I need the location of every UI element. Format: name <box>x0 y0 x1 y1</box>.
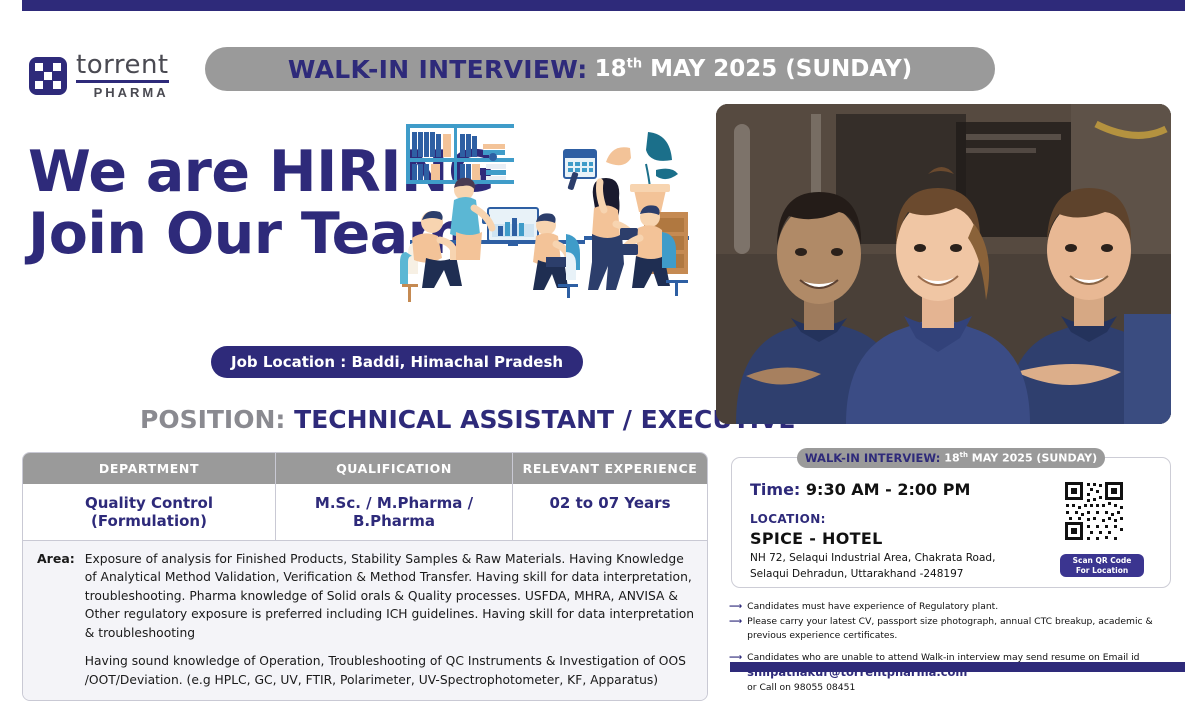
candidate-notes: ⟶ Candidates must have experience of Reg… <box>729 600 1179 696</box>
office-teamwork-illustration <box>398 112 698 307</box>
card-pill-label: WALK-IN INTERVIEW: <box>805 451 940 465</box>
note-item: ⟶ Please carry your latest CV, passport … <box>729 615 1179 642</box>
logo-subtitle: PHARMA <box>76 86 169 99</box>
area-label: Area: <box>37 550 75 689</box>
logo-rule <box>76 80 169 83</box>
area-paragraph-2: Having sound knowledge of Operation, Tro… <box>85 652 697 689</box>
note-item: ⟶ Candidates who are unable to attend Wa… <box>729 651 1179 694</box>
header-experience: RELEVANT EXPERIENCE <box>513 453 707 484</box>
logo-wordmark: torrent <box>76 52 169 78</box>
walkin-banner: WALK-IN INTERVIEW: 18th MAY 2025 (SUNDAY… <box>205 47 995 91</box>
cell-experience: 02 to 07 Years <box>513 484 707 540</box>
note-text: Candidates who are unable to attend Walk… <box>747 652 1139 663</box>
note-text: Please carry your latest CV, passport si… <box>747 615 1179 642</box>
team-photo <box>716 104 1171 424</box>
header-qualification: QUALIFICATION <box>276 453 513 484</box>
arrow-bullet-icon: ⟶ <box>729 615 742 642</box>
area-description: Area: Exposure of analysis for Finished … <box>23 540 707 700</box>
requirements-table: DEPARTMENT QUALIFICATION RELEVANT EXPERI… <box>22 452 708 701</box>
header-department: DEPARTMENT <box>23 453 276 484</box>
contact-email[interactable]: shilpathakur@torrentpharma.com <box>747 665 967 679</box>
area-paragraph-1: Exposure of analysis for Finished Produc… <box>85 550 697 642</box>
recruitment-poster: torrent PHARMA WALK-IN INTERVIEW: 18th M… <box>0 0 1200 675</box>
banner-date: 18th MAY 2025 (SUNDAY) <box>595 56 913 82</box>
card-pill-date: 18th MAY 2025 (SUNDAY) <box>944 451 1097 465</box>
card-walkin-pill: WALK-IN INTERVIEW: 18th MAY 2025 (SUNDAY… <box>797 448 1105 468</box>
qr-caption-line-2: For Location <box>1076 566 1128 576</box>
cell-department: Quality Control (Formulation) <box>23 484 276 540</box>
note-item: ⟶ Candidates must have experience of Reg… <box>729 600 1179 613</box>
note-text: Candidates must have experience of Regul… <box>747 600 998 613</box>
position-line: POSITION: TECHNICAL ASSISTANT / EXECUTIV… <box>140 405 795 434</box>
table-row: Quality Control (Formulation) M.Sc. / M.… <box>23 484 707 540</box>
banner-label: WALK-IN INTERVIEW: <box>288 55 588 84</box>
time-label: Time: <box>750 480 800 499</box>
position-label: POSITION: <box>140 405 285 434</box>
time-value: 9:30 AM - 2:00 PM <box>806 480 970 499</box>
table-header-row: DEPARTMENT QUALIFICATION RELEVANT EXPERI… <box>23 453 707 484</box>
torrent-checker-icon <box>28 56 68 96</box>
cell-qualification: M.Sc. / M.Pharma / B.Pharma <box>276 484 513 540</box>
job-location-badge: Job Location : Baddi, Himachal Pradesh <box>211 346 583 378</box>
top-accent-bar <box>22 0 1185 11</box>
torrent-pharma-logo: torrent PHARMA <box>28 52 169 99</box>
qr-code-icon[interactable] <box>1063 480 1125 542</box>
arrow-bullet-icon: ⟶ <box>729 600 742 613</box>
qr-caption-line-1: Scan QR Code <box>1073 556 1132 566</box>
scan-qr-button[interactable]: Scan QR Code For Location <box>1060 554 1144 577</box>
contact-phone: or Call on 98055 08451 <box>747 682 855 693</box>
arrow-bullet-icon: ⟶ <box>729 651 742 694</box>
